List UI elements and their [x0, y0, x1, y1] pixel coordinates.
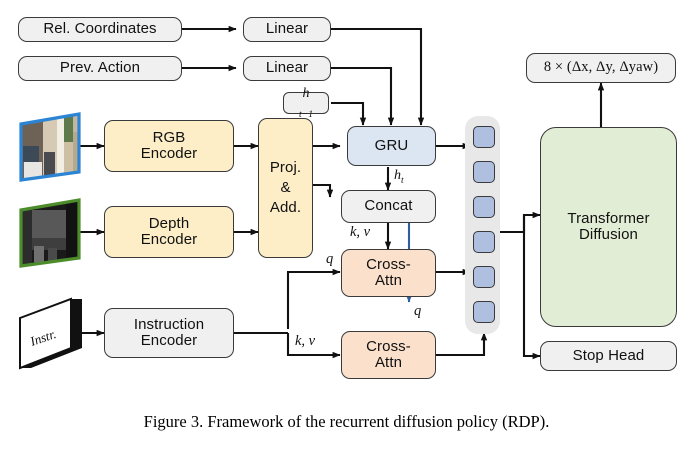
kv-concat-text: k, v — [350, 224, 370, 240]
node-depth-encoder-line2: Encoder — [141, 232, 198, 248]
node-transformer-diffusion-line1: Transformer — [567, 211, 649, 227]
token-sequence-strip — [465, 116, 500, 334]
node-linear-top: Linear — [243, 17, 331, 42]
node-proj-and-add-line3: Add. — [270, 198, 301, 218]
edge-label-kv-concat: k, v — [350, 224, 370, 241]
q-attn-text: q — [414, 303, 421, 319]
node-linear-mid-label: Linear — [266, 60, 308, 76]
node-transformer-diffusion-line2: Diffusion — [579, 227, 638, 243]
node-hidden-state-prev: ht−1 — [283, 92, 329, 114]
node-proj-and-add: Proj. & Add. — [258, 118, 313, 258]
edge-label-q-upper: q — [326, 251, 333, 268]
node-transformer-diffusion: Transformer Diffusion — [540, 127, 677, 327]
depth-observation-thumbnail — [18, 198, 82, 268]
kv-instruction-text: k, v — [295, 333, 315, 349]
rgb-observation-thumbnail — [18, 112, 82, 182]
node-cross-attn-upper-line2: Attn — [375, 273, 402, 289]
edge-label-hidden-state: ht — [394, 168, 404, 186]
node-hidden-state-prev-label: ht−1 — [299, 86, 313, 119]
token-item — [473, 126, 495, 148]
node-depth-encoder-line1: Depth — [149, 216, 190, 232]
token-item — [473, 231, 495, 253]
node-rel-coordinates-label: Rel. Coordinates — [43, 21, 156, 37]
figure-framework-rdp: Rel. Coordinates Prev. Action Linear Lin… — [0, 0, 693, 450]
node-cross-attn-lower-line2: Attn — [375, 355, 402, 371]
node-proj-and-add-line1: Proj. — [270, 158, 301, 178]
node-instruction-encoder-line1: Instruction — [134, 317, 204, 333]
node-action-output: 8 × (Δx, Δy, Δyaw) — [526, 53, 676, 83]
node-cross-attn-lower: Cross- Attn — [341, 331, 436, 379]
node-stop-head: Stop Head — [540, 341, 677, 371]
edge-label-q-attn: q — [414, 303, 421, 320]
node-cross-attn-lower-line1: Cross- — [366, 339, 411, 355]
node-gru-label: GRU — [375, 138, 409, 154]
h-symbol: h — [299, 86, 313, 101]
node-concat-label: Concat — [364, 198, 412, 214]
node-action-output-label: 8 × (Δx, Δy, Δyaw) — [544, 60, 658, 76]
node-prev-action: Prev. Action — [18, 56, 182, 81]
node-cross-attn-upper-line1: Cross- — [366, 257, 411, 273]
node-rgb-encoder-line1: RGB — [153, 130, 186, 146]
ht-symbol: h — [394, 168, 401, 183]
node-linear-top-label: Linear — [266, 21, 308, 37]
figure-caption: Figure 3. Framework of the recurrent dif… — [0, 412, 693, 432]
node-concat: Concat — [341, 190, 436, 223]
node-gru: GRU — [347, 126, 436, 166]
instruction-page-thumbnail: Instr. — [16, 296, 86, 372]
token-item — [473, 161, 495, 183]
token-item — [473, 196, 495, 218]
token-item — [473, 266, 495, 288]
node-rgb-encoder: RGB Encoder — [104, 120, 234, 172]
ht-subscript: t — [401, 176, 404, 186]
node-prev-action-label: Prev. Action — [60, 60, 140, 76]
node-rel-coordinates: Rel. Coordinates — [18, 17, 182, 42]
node-depth-encoder: Depth Encoder — [104, 206, 234, 258]
node-linear-mid: Linear — [243, 56, 331, 81]
node-stop-head-label: Stop Head — [573, 348, 645, 364]
node-rgb-encoder-line2: Encoder — [141, 146, 198, 162]
q-upper-text: q — [326, 251, 333, 267]
token-item — [473, 301, 495, 323]
node-instruction-encoder-line2: Encoder — [141, 333, 198, 349]
node-instruction-encoder: Instruction Encoder — [104, 308, 234, 358]
node-cross-attn-upper: Cross- Attn — [341, 249, 436, 297]
figure-caption-text: Figure 3. Framework of the recurrent dif… — [144, 412, 550, 431]
node-proj-and-add-line2: & — [280, 178, 290, 198]
edge-label-kv-instruction: k, v — [295, 333, 315, 350]
